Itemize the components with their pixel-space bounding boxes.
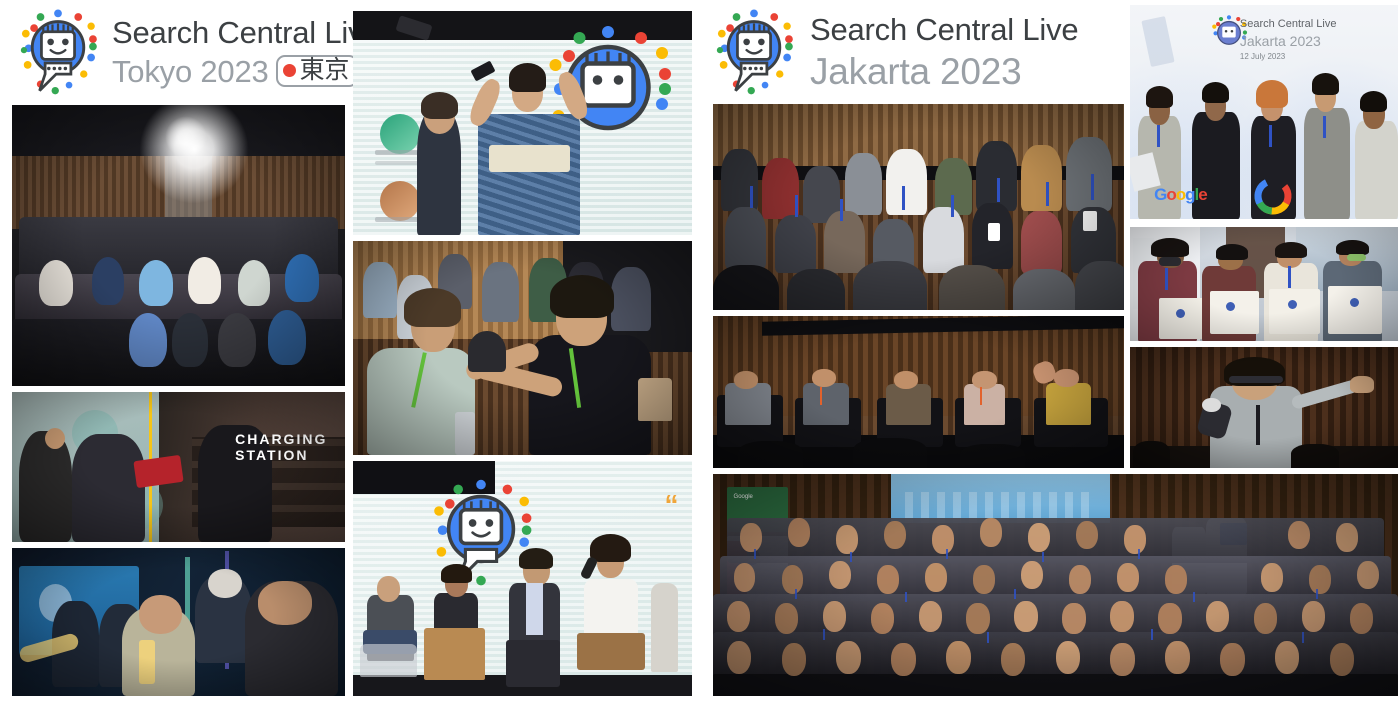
tokyo-panel-discussion-photo: “	[353, 461, 692, 696]
collage-canvas: Search Central Live Tokyo 2023 東京	[0, 0, 1400, 704]
tokyo-japanese-badge: 東京	[276, 55, 359, 87]
tokyo-title: Search Central Live	[112, 17, 380, 48]
tokyo-afterparty-drinks-photo	[12, 548, 345, 696]
search-central-robot-logo-icon	[708, 6, 800, 98]
jakarta-backdrop-subtitle: Jakarta 2023	[1240, 33, 1321, 49]
jakarta-backdrop-group-photo: Search Central Live Jakarta 2023 12 July…	[1130, 5, 1398, 219]
tokyo-logo-lockup: Search Central Live Tokyo 2023 東京	[12, 6, 380, 98]
search-central-robot-logo-icon	[12, 6, 104, 98]
jakarta-subtitle: Jakarta 2023	[810, 53, 1078, 90]
jakarta-title: Search Central Live	[810, 14, 1078, 45]
google-letters-prop: Google	[1154, 185, 1207, 205]
tokyo-subtitle: Tokyo 2023	[112, 56, 269, 87]
jakarta-backdrop-date: 12 July 2023	[1240, 52, 1285, 61]
tokyo-japanese-label: 東京	[300, 58, 350, 83]
tokyo-stage-yukata-speaker-photo	[353, 11, 692, 235]
tokyo-charging-station-photo: CHARGING STATION	[12, 392, 345, 542]
tokyo-logo-text: Search Central Live Tokyo 2023 東京	[112, 17, 380, 87]
jakarta-logo-lockup: Search Central Live Jakarta 2023	[708, 6, 1078, 98]
jakarta-logo-text: Search Central Live Jakarta 2023	[810, 14, 1078, 90]
tokyo-attendees-heart-hands-photo	[353, 241, 692, 455]
jakarta-full-group-photo: Google	[713, 474, 1398, 696]
jakarta-audience-cheering-photo	[713, 104, 1124, 310]
jakarta-panel-discussion-photo	[713, 316, 1124, 468]
jakarta-question-mic-photo	[1130, 347, 1398, 468]
japan-flag-dot-icon	[283, 64, 296, 77]
jakarta-tote-bags-photo	[1130, 227, 1398, 341]
tokyo-subtitle-row: Tokyo 2023 東京	[112, 55, 380, 87]
jakarta-backdrop-title: Search Central Live	[1240, 18, 1337, 30]
tokyo-audience-group-photo	[12, 105, 345, 386]
